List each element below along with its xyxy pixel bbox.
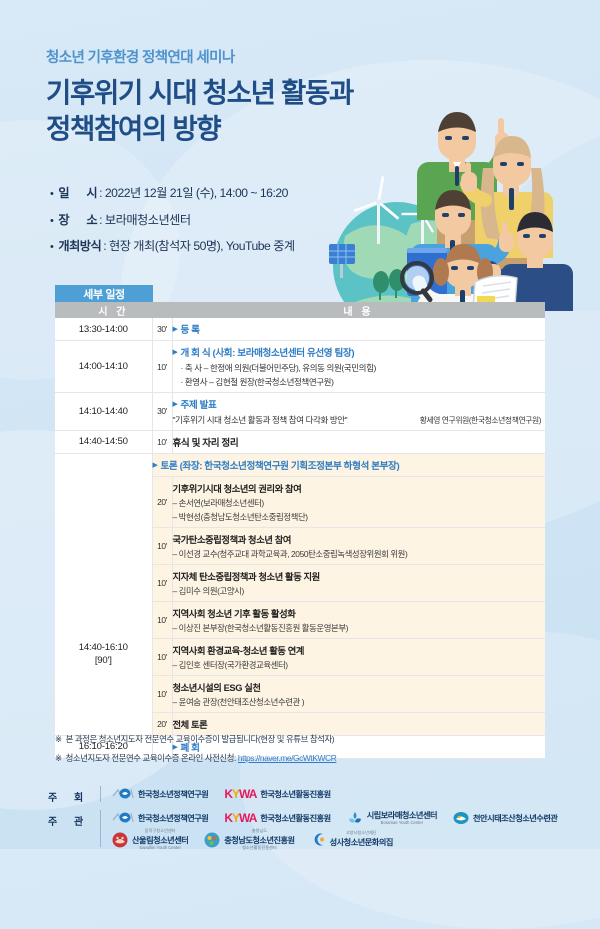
org-item: 고양시청소년재단성사청소년문화의집	[311, 830, 393, 849]
info-row-date: • 일 시 : 2022년 12월 21일 (수), 14:00 ~ 16:20	[50, 183, 295, 201]
event-info: • 일 시 : 2022년 12월 21일 (수), 14:00 ~ 16:20…	[50, 183, 295, 263]
divider	[100, 786, 101, 802]
cell-duration: 20'	[152, 712, 172, 735]
table-row: 13:30-14:0030'▶등 록	[55, 318, 545, 341]
org-name-sub: Sanullim Youth Center	[139, 846, 180, 851]
cell-duration: 10'	[152, 430, 172, 453]
org-item: KYWA한국청소년활동진흥원	[224, 784, 330, 803]
poster-header: 청소년 기후환경 정책연대 세미나 기후위기 시대 청소년 활동과 정책참여의 …	[46, 46, 466, 148]
speaker-name: – 김인호 센터장(국가환경교육센터)	[173, 659, 546, 671]
speaker-name: – 이상진 본부장(한국청소년활동진흥원 활동운영본부)	[173, 622, 546, 634]
row-heading-text: 휴식 및 자리 정리	[173, 438, 239, 449]
org-name-sub: Boramae Youth Center	[381, 821, 423, 826]
org-logo-chungnam-icon	[204, 832, 220, 848]
quote-row: "기후위기 시대 청소년 활동과 정책 참여 다각화 방안"황세영 연구위원(한…	[173, 414, 546, 426]
notes-section: ※본 과정은 청소년지도자 전문연수 교육이수증이 발급됩니다(현장 및 유튜브…	[55, 733, 336, 771]
note-text: 청소년지도자 전문연수 교육이수증 온라인 사전신청:	[66, 753, 236, 763]
row-heading-text: 등 록	[180, 325, 199, 336]
org-item: 한국청소년정책연구원	[112, 808, 208, 827]
row-heading: 휴식 및 자리 정리	[173, 435, 546, 449]
cohost-row: 주 관 한국청소년정책연구원KYWA한국청소년활동진흥원시립보라매청소년센터Bo…	[48, 808, 568, 849]
host-logo-list: 한국청소년정책연구원KYWA한국청소년활동진흥원	[112, 784, 568, 803]
cell-duration: 30'	[152, 393, 172, 431]
row-heading: ▶개 회 식 (사회: 보라매청소년센터 유선영 팀장)	[173, 345, 546, 359]
org-item: 충청남도충청남도청소년진흥원청소년활동진흥센터	[204, 830, 294, 849]
info-row-venue: • 장 소 : 보라매청소년센터	[50, 210, 295, 228]
row-heading-text: 주제 발표	[180, 400, 216, 411]
divider	[100, 810, 101, 847]
org-name: 충청남도청소년진흥원	[224, 834, 294, 846]
quote-text: "기후위기 시대 청소년 활동과 정책 참여 다각화 방안"	[173, 414, 348, 426]
org-name: 한국청소년정책연구원	[138, 788, 208, 800]
cell-duration: 10'	[152, 527, 172, 564]
speaker-name: – 김미수 의원(고양시)	[173, 585, 546, 597]
row-heading-text: 개 회 식 (사회: 보라매청소년센터 유선영 팀장)	[180, 348, 354, 359]
cell-time: 13:30-14:00	[55, 318, 152, 341]
info-label-venue: 장 소	[58, 210, 97, 228]
table-row: 14:40-14:5010'휴식 및 자리 정리	[55, 430, 545, 453]
sub-line: · 환영사 – 김현철 원장(한국청소년정책연구원)	[173, 376, 546, 388]
discussion-header-content: ▶토론 (좌장: 한국청소년정책연구원 기획조정본부 하형석 본부장)	[152, 453, 545, 476]
org-name: 한국청소년정책연구원	[138, 812, 208, 824]
host-label: 주 회	[48, 784, 100, 804]
cell-duration: 10'	[152, 638, 172, 675]
schedule-body: 13:30-14:0030'▶등 록14:00-14:1010'▶개 회 식 (…	[55, 318, 545, 758]
info-value-date: : 2022년 12월 21일 (수), 14:00 ~ 16:20	[99, 183, 288, 201]
topic-title: 지자체 탄소중립정책과 청소년 활동 지원	[173, 569, 546, 583]
note-mark: ※	[55, 734, 62, 744]
bullet-icon: •	[50, 216, 53, 227]
org-item: KYWA한국청소년활동진흥원	[224, 808, 330, 827]
row-heading: ▶주제 발표	[173, 397, 546, 411]
cell-time-discussion: 14:40-16:10[90']	[55, 453, 152, 735]
org-item: 시립보라매청소년센터Boramae Youth Center	[347, 808, 437, 827]
page-title: 기후위기 시대 청소년 활동과 정책참여의 방향	[46, 75, 466, 148]
cohost-logo-list: 한국청소년정책연구원KYWA한국청소년활동진흥원시립보라매청소년센터Borama…	[112, 808, 568, 849]
registration-link[interactable]: https://naver.me/GcWtKWCR	[238, 753, 336, 763]
cell-time: 14:10-14:40	[55, 393, 152, 431]
cell-content: 청소년시설의 ESG 실천– 윤여숨 관장(천안태조산청소년수련관 )	[172, 675, 545, 712]
arrow-icon: ▶	[173, 349, 178, 356]
org-logo-nypi-icon	[112, 811, 134, 824]
org-name: 한국청소년활동진흥원	[260, 812, 330, 824]
cell-content: ▶등 록	[172, 318, 545, 341]
cell-duration: 30'	[152, 318, 172, 341]
cell-content: 지역사회 청소년 기후 활동 활성화– 이상진 본부장(한국청소년활동진흥원 활…	[172, 601, 545, 638]
org-logo-seongsa-icon	[311, 832, 326, 847]
cell-content: 지자체 탄소중립정책과 청소년 활동 지원– 김미수 의원(고양시)	[172, 564, 545, 601]
note-mark: ※	[55, 753, 62, 763]
speaker-name: – 이선경 교수(청주교대 과학교육과, 2050탄소중립녹색성장위원회 위원)	[173, 548, 546, 560]
org-item: 동작구청소년센터산울림청소년센터Sanullim Youth Center	[112, 830, 188, 849]
table-row: 14:00-14:1010'▶개 회 식 (사회: 보라매청소년센터 유선영 팀…	[55, 341, 545, 393]
cell-duration: 10'	[152, 675, 172, 712]
host-row: 주 회 한국청소년정책연구원KYWA한국청소년활동진흥원	[48, 784, 568, 804]
info-value-format: : 현장 개최(참석자 50명), YouTube 중계	[103, 236, 294, 254]
column-header-content: 내 용	[172, 302, 545, 318]
table-row: 14:10-14:4030'▶주제 발표"기후위기 시대 청소년 활동과 정책 …	[55, 393, 545, 431]
topic-title: 전체 토론	[173, 717, 546, 731]
info-value-venue: : 보라매청소년센터	[99, 210, 190, 228]
arrow-icon: ▶	[173, 401, 178, 408]
cell-content: ▶개 회 식 (사회: 보라매청소년센터 유선영 팀장)· 축 사 – 한정애 …	[172, 341, 545, 393]
discussion-header-text: 토론 (좌장: 한국청소년정책연구원 기획조정본부 하형석 본부장)	[160, 461, 399, 472]
bullet-icon: •	[50, 242, 53, 253]
topic-title: 지역사회 청소년 기후 활동 활성화	[173, 606, 546, 620]
arrow-icon: ▶	[153, 462, 158, 469]
topic-title: 기후위기시대 청소년의 권리와 참여	[173, 481, 546, 495]
info-label-format: 개최방식	[58, 236, 101, 254]
table-header-row: 시 간 내 용	[55, 302, 545, 318]
row-heading: ▶등 록	[173, 322, 546, 336]
organizations-footer: 주 회 한국청소년정책연구원KYWA한국청소년활동진흥원 주 관 한국청소년정책…	[48, 784, 568, 853]
org-logo-sanullim-icon	[112, 832, 128, 848]
speaker-name: – 윤여숨 관장(천안태조산청소년수련관 )	[173, 696, 546, 708]
cell-duration: 20'	[152, 476, 172, 527]
org-logo-cheonan-icon	[453, 811, 469, 825]
cell-content: 지역사회 환경교육-청소년 활동 연계– 김인호 센터장(국가환경교육센터)	[172, 638, 545, 675]
org-name-stack: 고양시청소년재단성사청소년문화의집	[330, 831, 393, 848]
presenter-text: 황세영 연구위원(한국청소년정책연구원)	[420, 415, 545, 426]
cell-content: 휴식 및 자리 정리	[172, 430, 545, 453]
org-item: 한국청소년정책연구원	[112, 784, 208, 803]
cell-content: 기후위기시대 청소년의 권리와 참여– 손서연(보라매청소년센터)– 박현성(충…	[172, 476, 545, 527]
org-name-stack: 충청남도충청남도청소년진흥원청소년활동진흥센터	[224, 829, 294, 850]
discussion-time: 14:40-16:10	[55, 642, 152, 653]
schedule-table: 시 간 내 용 13:30-14:0030'▶등 록14:00-14:1010'…	[55, 302, 545, 759]
topic-title: 국가탄소중립정책과 청소년 참여	[173, 532, 546, 546]
org-logo-boramae-icon	[347, 811, 363, 825]
cell-time: 14:00-14:10	[55, 341, 152, 393]
arrow-icon: ▶	[173, 326, 178, 333]
cell-time: 14:40-14:50	[55, 430, 152, 453]
cell-duration: 10'	[152, 564, 172, 601]
org-name: 성사청소년문화의집	[330, 836, 393, 848]
org-logo-kywa-icon: KYWA	[224, 787, 256, 801]
info-row-format: • 개최방식 : 현장 개최(참석자 50명), YouTube 중계	[50, 236, 295, 254]
org-name-sub: 청소년활동진흥센터	[242, 846, 277, 851]
cell-duration: 10'	[152, 341, 172, 393]
speaker-name: – 손서연(보라매청소년센터)	[173, 497, 546, 509]
org-logo-nypi-icon	[112, 787, 134, 800]
bullet-icon: •	[50, 189, 53, 200]
note-item: ※청소년지도자 전문연수 교육이수증 온라인 사전신청: https://nav…	[55, 752, 336, 764]
speaker-name: – 박현성(충청남도청소년탄소중립정책단)	[173, 511, 546, 523]
column-header-time: 시 간	[55, 302, 172, 318]
sub-line: · 축 사 – 한정애 의원(더불어민주당), 유의동 의원(국민의힘)	[173, 362, 546, 374]
discussion-header-row: 14:40-16:10[90']▶토론 (좌장: 한국청소년정책연구원 기획조정…	[55, 453, 545, 476]
schedule-tab: 세부 일정	[55, 285, 153, 302]
org-name: 한국청소년활동진흥원	[260, 788, 330, 800]
poster-subtitle: 청소년 기후환경 정책연대 세미나	[46, 46, 466, 67]
org-name: 산울림청소년센터	[132, 834, 188, 846]
info-label-date: 일 시	[58, 183, 97, 201]
topic-title: 지역사회 환경교육-청소년 활동 연계	[173, 643, 546, 657]
org-item: 천안시태조산청소년수련관	[453, 808, 557, 827]
cell-content: 전체 토론	[172, 712, 545, 735]
cell-duration: 10'	[152, 601, 172, 638]
cohost-label: 주 관	[48, 808, 100, 828]
org-name-stack: 시립보라매청소년센터Boramae Youth Center	[367, 809, 437, 826]
note-item: ※본 과정은 청소년지도자 전문연수 교육이수증이 발급됩니다(현장 및 유튜브…	[55, 733, 336, 745]
org-name-stack: 동작구청소년센터산울림청소년센터Sanullim Youth Center	[132, 829, 188, 850]
cell-content: 국가탄소중립정책과 청소년 참여– 이선경 교수(청주교대 과학교육과, 205…	[172, 527, 545, 564]
topic-title: 청소년시설의 ESG 실천	[173, 680, 546, 694]
org-name: 천안시태조산청소년수련관	[473, 812, 557, 824]
cell-content: ▶주제 발표"기후위기 시대 청소년 활동과 정책 참여 다각화 방안"황세영 …	[172, 393, 545, 431]
note-text: 본 과정은 청소년지도자 전문연수 교육이수증이 발급됩니다(현장 및 유튜브 …	[66, 734, 335, 744]
discussion-time-sub: [90']	[55, 655, 152, 666]
org-logo-kywa-icon: KYWA	[224, 811, 256, 825]
